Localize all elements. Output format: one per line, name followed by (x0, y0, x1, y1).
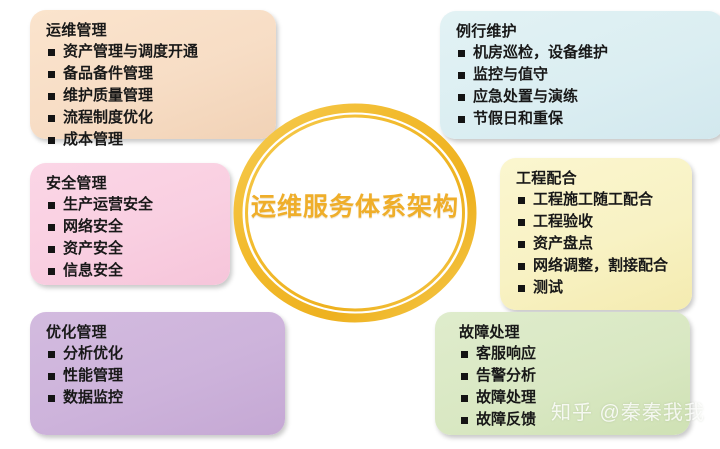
list-item: 工程施工随工配合 (516, 189, 678, 211)
card-security-title: 安全管理 (46, 173, 216, 194)
card-optimize[interactable]: 优化管理 分析优化 性能管理 数据监控 (30, 312, 285, 435)
card-security-list: 生产运营安全 网络安全 资产安全 信息安全 (46, 194, 216, 282)
card-routine-title: 例行维护 (456, 21, 710, 42)
list-item: 工程验收 (516, 211, 678, 233)
list-item: 机房巡检，设备维护 (456, 42, 710, 64)
card-fault-title: 故障处理 (451, 322, 676, 343)
list-item: 生产运营安全 (46, 194, 216, 216)
list-item: 客服响应 (459, 343, 676, 365)
card-project[interactable]: 工程配合 工程施工随工配合 工程验收 资产盘点 网络调整，割接配合 测试 (500, 158, 692, 310)
list-item: 备品备件管理 (46, 63, 262, 85)
list-item: 应急处置与演练 (456, 86, 710, 108)
center-label: 运维服务体系架构 (228, 187, 482, 223)
list-item: 监控与值守 (456, 64, 710, 86)
list-item: 分析优化 (46, 343, 271, 365)
card-ops-title: 运维管理 (46, 20, 262, 41)
card-project-title: 工程配合 (516, 168, 678, 189)
list-item: 测试 (516, 277, 678, 299)
list-item: 资产盘点 (516, 233, 678, 255)
list-item: 资产安全 (46, 238, 216, 260)
list-item: 网络调整，割接配合 (516, 255, 678, 277)
card-optimize-list: 分析优化 性能管理 数据监控 (46, 343, 271, 409)
list-item: 数据监控 (46, 387, 271, 409)
card-security[interactable]: 安全管理 生产运营安全 网络安全 资产安全 信息安全 (30, 163, 230, 285)
diagram-canvas: 运维管理 资产管理与调度开通 备品备件管理 维护质量管理 流程制度优化 成本管理… (0, 0, 720, 449)
list-item: 资产管理与调度开通 (46, 41, 262, 63)
list-item: 节假日和重保 (456, 108, 710, 130)
card-routine[interactable]: 例行维护 机房巡检，设备维护 监控与值守 应急处置与演练 节假日和重保 (440, 11, 720, 139)
watermark: 知乎 @秦秦我我 (551, 396, 705, 425)
list-item: 信息安全 (46, 260, 216, 282)
list-item: 网络安全 (46, 216, 216, 238)
list-item: 告警分析 (459, 365, 676, 387)
list-item: 性能管理 (46, 365, 271, 387)
card-project-list: 工程施工随工配合 工程验收 资产盘点 网络调整，割接配合 测试 (516, 189, 678, 298)
card-routine-list: 机房巡检，设备维护 监控与值守 应急处置与演练 节假日和重保 (456, 42, 710, 130)
